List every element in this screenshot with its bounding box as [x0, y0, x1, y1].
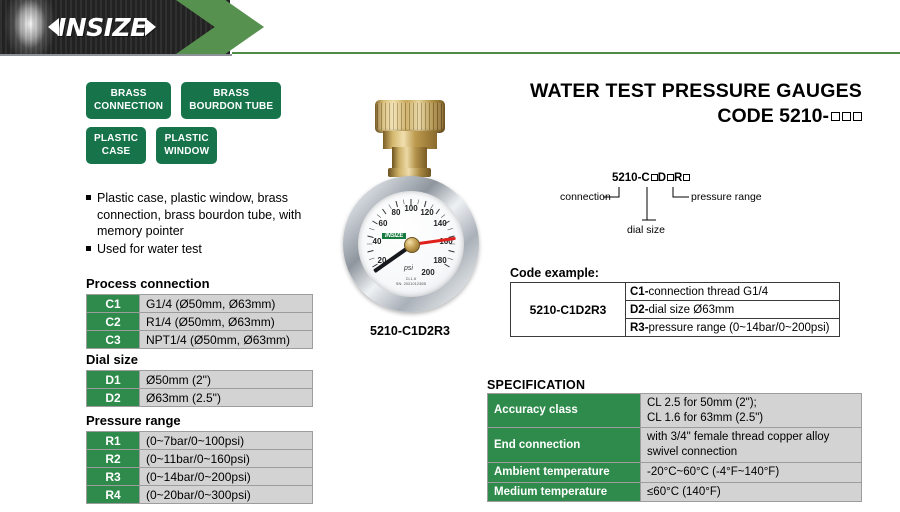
dial-brand-label: INSIZE: [382, 233, 406, 239]
code-placeholder-box: [831, 112, 840, 121]
svg-text:120: 120: [420, 208, 434, 217]
code-key-diagram: 5210-CDR connection dial size pressure r…: [560, 172, 860, 234]
badge-brass-connection: BRASS CONNECTION: [86, 82, 171, 119]
dial-size-block: Dial size D1 Ø50mm (2") D2 Ø63mm (2.5"): [86, 352, 313, 407]
bullet-text: Plastic case, plastic window, brass conn…: [97, 190, 321, 240]
table-row: C3 NPT1/4 (Ø50mm, Ø63mm): [87, 331, 313, 349]
right-arrow-icon: [145, 18, 156, 36]
code-example-title: Code example:: [510, 266, 599, 280]
table-row: R1 (0~7bar/0~100psi): [87, 432, 313, 450]
example-text: connection thread G1/4: [649, 286, 769, 298]
example-prefix: R3-: [630, 322, 649, 334]
pressure-range-block: Pressure range R1 (0~7bar/0~100psi) R2 (…: [86, 413, 313, 504]
spec-key: Accuracy class: [488, 394, 641, 428]
page-header: INSIZE: [0, 0, 900, 56]
needle-hub: [404, 237, 420, 253]
product-caption: 5210-C1D2R3: [330, 324, 490, 338]
table-row: R4 (0~20bar/0~300psi): [87, 486, 313, 504]
section-title: Dial size: [86, 352, 313, 367]
code-placeholder-box: [842, 112, 851, 121]
gauge-bezel: 20 40 60 80 100 120 140 160 180 200 INSI…: [343, 176, 479, 312]
option-value: (0~7bar/0~100psi): [140, 432, 313, 450]
option-code: C3: [87, 331, 140, 349]
badge-line-1: PLASTIC: [164, 133, 209, 146]
table-row: D2 Ø63mm (2.5"): [87, 389, 313, 407]
left-arrow-icon: [48, 18, 59, 36]
dial-fine-print: CL1.6 SN: 202101230B: [358, 277, 464, 288]
badge-brass-bourdon-tube: BRASS BOURDON TUBE: [181, 82, 281, 119]
spec-value: with 3/4" female thread copper alloy swi…: [641, 428, 862, 462]
option-code: D2: [87, 389, 140, 407]
label-pressure-range: pressure range: [691, 191, 762, 203]
badge-row-1: BRASS CONNECTION BRASS BOURDON TUBE: [86, 82, 306, 119]
list-item: Plastic case, plastic window, brass conn…: [86, 190, 321, 240]
label-dial-size: dial size: [627, 224, 665, 236]
section-title: Pressure range: [86, 413, 313, 428]
header-gray-rule: [0, 54, 232, 56]
specification-table: Accuracy class CL 2.5 for 50mm (2"); CL …: [487, 393, 862, 502]
table-row: C2 R1/4 (Ø50mm, Ø63mm): [87, 313, 313, 331]
dial-size-table: D1 Ø50mm (2") D2 Ø63mm (2.5"): [86, 370, 313, 407]
example-prefix: D2-: [630, 304, 649, 316]
process-connection-table: C1 G1/4 (Ø50mm, Ø63mm) C2 R1/4 (Ø50mm, Ø…: [86, 294, 313, 349]
list-item: Used for water test: [86, 241, 321, 258]
page-title: WATER TEST PRESSURE GAUGES CODE 5210-: [500, 80, 862, 128]
badge-line-2: CASE: [94, 146, 138, 159]
spec-key: Ambient temperature: [488, 462, 641, 482]
option-value: Ø63mm (2.5"): [140, 389, 313, 407]
option-value: NPT1/4 (Ø50mm, Ø63mm): [140, 331, 313, 349]
example-detail-cell: C1-connection thread G1/4: [626, 283, 840, 301]
option-value: Ø50mm (2"): [140, 371, 313, 389]
example-code-cell: 5210-C1D2R3: [511, 283, 626, 337]
option-value: (0~11bar/0~160psi): [140, 450, 313, 468]
option-value: R1/4 (Ø50mm, Ø63mm): [140, 313, 313, 331]
table-row: R3 (0~14bar/0~200psi): [87, 468, 313, 486]
option-code: D1: [87, 371, 140, 389]
code-key-leader-lines: [560, 172, 860, 234]
section-title: Process connection: [86, 276, 313, 291]
badge-line-2: CONNECTION: [94, 101, 163, 114]
dial-serial-number: SN: 202101230B: [358, 282, 464, 287]
svg-text:200: 200: [421, 268, 435, 277]
brass-swivel-nut: [375, 100, 445, 133]
table-row: 5210-C1D2R3 C1-connection thread G1/4: [511, 283, 840, 301]
insize-logo: INSIZE: [48, 14, 156, 40]
pressure-range-table: R1 (0~7bar/0~100psi) R2 (0~11bar/0~160ps…: [86, 431, 313, 504]
badge-line-2: WINDOW: [164, 146, 209, 159]
svg-text:140: 140: [433, 219, 447, 228]
option-code: R4: [87, 486, 140, 504]
product-title: WATER TEST PRESSURE GAUGES: [500, 80, 862, 103]
product-code-line: CODE 5210-: [500, 105, 862, 128]
badge-line-1: BRASS: [94, 88, 163, 101]
spec-key: End connection: [488, 428, 641, 462]
brand-name: INSIZE: [57, 15, 147, 40]
option-code: R3: [87, 468, 140, 486]
badge-plastic-case: PLASTIC CASE: [86, 127, 146, 164]
product-image: 20 40 60 80 100 120 140 160 180 200 INSI…: [330, 96, 490, 346]
gauge-dial-face: 20 40 60 80 100 120 140 160 180 200 INSI…: [358, 191, 464, 297]
example-text: dial size Ø63mm: [649, 304, 735, 316]
example-text: pressure range (0~14bar/0~200psi): [649, 322, 830, 334]
svg-text:40: 40: [373, 237, 382, 246]
table-row: End connection with 3/4" female thread c…: [488, 428, 862, 462]
header-green-rule: [232, 52, 900, 54]
option-code: R2: [87, 450, 140, 468]
option-code: R1: [87, 432, 140, 450]
table-row: C1 G1/4 (Ø50mm, Ø63mm): [87, 295, 313, 313]
svg-text:100: 100: [404, 204, 418, 213]
label-connection: connection: [560, 191, 611, 203]
code-example-table: 5210-C1D2R3 C1-connection thread G1/4 D2…: [510, 282, 840, 337]
option-code: C2: [87, 313, 140, 331]
feature-badges: BRASS CONNECTION BRASS BOURDON TUBE PLAS…: [86, 82, 306, 172]
example-detail-cell: R3-pressure range (0~14bar/0~200psi): [626, 319, 840, 337]
option-value: (0~14bar/0~200psi): [140, 468, 313, 486]
badge-line-2: BOURDON TUBE: [189, 101, 273, 114]
spec-value: -20°C~60°C (-4°F~140°F): [641, 462, 862, 482]
spec-key: Medium temperature: [488, 482, 641, 502]
dial-unit-label: psi: [404, 265, 413, 272]
table-row: Medium temperature ≤60°C (140°F): [488, 482, 862, 502]
badge-line-1: BRASS: [189, 88, 273, 101]
table-row: R2 (0~11bar/0~160psi): [87, 450, 313, 468]
bullet-text: Used for water test: [97, 241, 202, 258]
process-connection-block: Process connection C1 G1/4 (Ø50mm, Ø63mm…: [86, 276, 313, 349]
option-value: G1/4 (Ø50mm, Ø63mm): [140, 295, 313, 313]
badge-line-1: PLASTIC: [94, 133, 138, 146]
svg-text:180: 180: [433, 256, 447, 265]
example-prefix: C1-: [630, 286, 649, 298]
bullet-square-icon: [86, 195, 91, 200]
spec-value: CL 2.5 for 50mm (2"); CL 1.6 for 63mm (2…: [641, 394, 862, 428]
badge-plastic-window: PLASTIC WINDOW: [156, 127, 217, 164]
option-code: C1: [87, 295, 140, 313]
spec-value: ≤60°C (140°F): [641, 482, 862, 502]
svg-text:80: 80: [392, 208, 401, 217]
example-detail-cell: D2-dial size Ø63mm: [626, 301, 840, 319]
table-row: Ambient temperature -20°C~60°C (-4°F~140…: [488, 462, 862, 482]
table-row: D1 Ø50mm (2"): [87, 371, 313, 389]
product-code-prefix: CODE 5210-: [717, 105, 829, 127]
bullet-square-icon: [86, 246, 91, 251]
table-row: Accuracy class CL 2.5 for 50mm (2"); CL …: [488, 394, 862, 428]
feature-bullet-list: Plastic case, plastic window, brass conn…: [86, 190, 321, 258]
code-placeholder-box: [853, 112, 862, 121]
option-value: (0~20bar/0~300psi): [140, 486, 313, 504]
svg-text:60: 60: [379, 219, 388, 228]
badge-row-2: PLASTIC CASE PLASTIC WINDOW: [86, 127, 306, 164]
specification-title: SPECIFICATION: [487, 378, 585, 392]
